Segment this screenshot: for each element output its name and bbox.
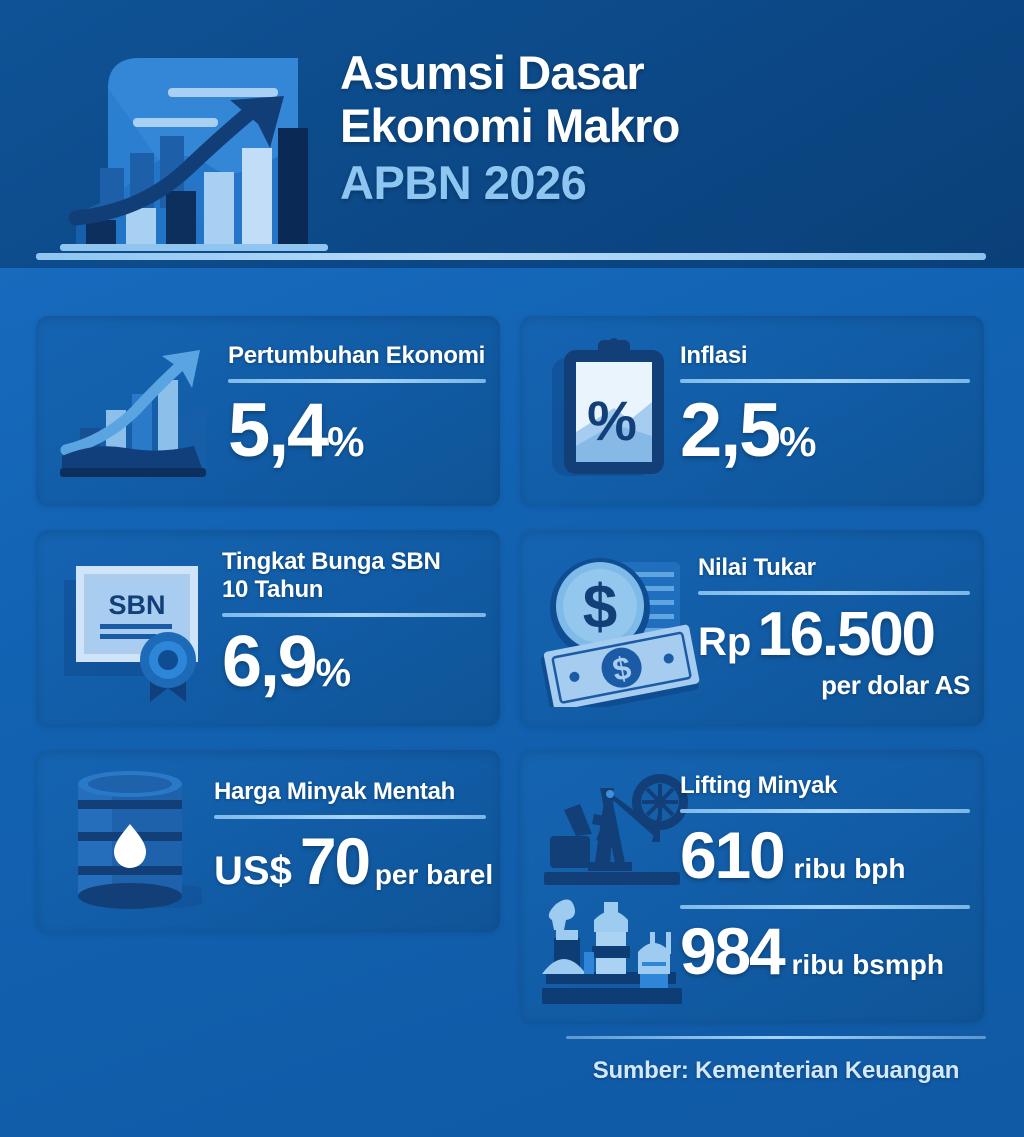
card-divider bbox=[228, 379, 486, 383]
oil-pumpjack-icon bbox=[534, 764, 690, 890]
card-body-pertumbuhan: Pertumbuhan Ekonomi 5,4 % bbox=[228, 342, 486, 474]
card-tingkat-bunga-sbn: SBN Tingkat Bunga SBN 10 Tahun 6,9 % bbox=[36, 530, 500, 726]
card-suffix-sbn: % bbox=[316, 651, 351, 696]
card-body-inflasi: Inflasi 2,5 % bbox=[680, 342, 970, 474]
gas-plant-icon bbox=[534, 890, 690, 1010]
clipboard-percent-icon: % bbox=[546, 336, 686, 486]
card-body-nilai-tukar: Nilai Tukar Rp 16.500 per dolar AS bbox=[698, 554, 970, 701]
card-divider-oil bbox=[680, 809, 970, 813]
card-suffix-harga-minyak: per barel bbox=[375, 859, 493, 891]
card-suffix-lifting-gas: ribu bsmph bbox=[792, 949, 944, 981]
card-value-nilai-tukar: 16.500 bbox=[757, 599, 933, 670]
oil-barrel-icon bbox=[62, 766, 202, 916]
header-title-line2: Ekonomi Makro bbox=[340, 99, 1000, 152]
coin-banknote-icon: $ $ bbox=[536, 552, 706, 707]
bar-chart-arrow-up-icon bbox=[54, 336, 214, 486]
card-body-harga-minyak: Harga Minyak Mentah US$ 70 per barel bbox=[214, 778, 486, 899]
card-value-inflasi: 2,5 bbox=[680, 387, 779, 474]
footer-divider bbox=[566, 1036, 986, 1039]
svg-text:%: % bbox=[587, 389, 637, 452]
infographic-page: Asumsi Dasar Ekonomi Makro APBN 2026 Per… bbox=[0, 0, 1024, 1137]
card-value-pertumbuhan: 5,4 bbox=[228, 387, 327, 474]
card-suffix-lifting-oil: ribu bph bbox=[794, 853, 906, 885]
card-title-lifting: Lifting Minyak bbox=[680, 772, 970, 800]
sbn-certificate-seal-icon: SBN bbox=[56, 552, 226, 707]
card-title-inflasi: Inflasi bbox=[680, 342, 970, 370]
card-harga-minyak-mentah: Harga Minyak Mentah US$ 70 per barel bbox=[36, 750, 500, 932]
card-divider bbox=[680, 379, 970, 383]
card-value-lifting-oil: 610 bbox=[680, 817, 784, 893]
header-banner: Asumsi Dasar Ekonomi Makro APBN 2026 bbox=[0, 0, 1024, 268]
card-prefix-usd: US$ bbox=[214, 849, 292, 894]
card-prefix-rp: Rp bbox=[698, 620, 751, 665]
card-title-sbn-line1: Tingkat Bunga SBN bbox=[222, 548, 486, 576]
card-title-pertumbuhan: Pertumbuhan Ekonomi bbox=[228, 342, 486, 370]
card-title-nilai-tukar: Nilai Tukar bbox=[698, 554, 970, 582]
header-title-line3: APBN 2026 bbox=[340, 155, 1000, 211]
card-value-lifting-gas: 984 bbox=[680, 913, 784, 989]
card-lifting-minyak: Lifting Minyak 610 ribu bph 984 ribu bsm… bbox=[520, 750, 984, 1022]
card-divider bbox=[698, 591, 970, 595]
card-nilai-tukar: $ $ Nilai Tukar Rp 16.500 per dolar AS bbox=[520, 530, 984, 726]
card-divider-gas bbox=[680, 905, 970, 909]
card-pertumbuhan-ekonomi: Pertumbuhan Ekonomi 5,4 % bbox=[36, 316, 500, 506]
card-value-sbn: 6,9 bbox=[222, 621, 316, 703]
document-growth-chart-icon bbox=[48, 48, 338, 258]
svg-text:SBN: SBN bbox=[108, 590, 165, 620]
card-value-harga-minyak: 70 bbox=[300, 823, 369, 899]
card-suffix-inflasi: % bbox=[779, 418, 815, 466]
header-title-line1: Asumsi Dasar bbox=[340, 46, 1000, 99]
card-divider bbox=[214, 815, 486, 819]
footer-source-block: Sumber: Kementerian Keuangan bbox=[566, 1036, 986, 1085]
svg-text:$: $ bbox=[583, 573, 617, 642]
card-inflasi: % Inflasi 2,5 % bbox=[520, 316, 984, 506]
card-subnote-nilai-tukar: per dolar AS bbox=[698, 670, 970, 701]
card-suffix-pertumbuhan: % bbox=[327, 418, 363, 466]
header-accent-line bbox=[36, 253, 986, 260]
card-title-sbn-line2: 10 Tahun bbox=[222, 576, 486, 604]
footer-source-text: Sumber: Kementerian Keuangan bbox=[566, 1057, 986, 1085]
card-title-harga-minyak: Harga Minyak Mentah bbox=[214, 778, 486, 806]
card-body-lifting: Lifting Minyak 610 ribu bph 984 ribu bsm… bbox=[680, 772, 970, 989]
header-title-block: Asumsi Dasar Ekonomi Makro APBN 2026 bbox=[340, 46, 1000, 212]
card-body-sbn: Tingkat Bunga SBN 10 Tahun 6,9 % bbox=[222, 548, 486, 703]
card-divider bbox=[222, 613, 486, 617]
